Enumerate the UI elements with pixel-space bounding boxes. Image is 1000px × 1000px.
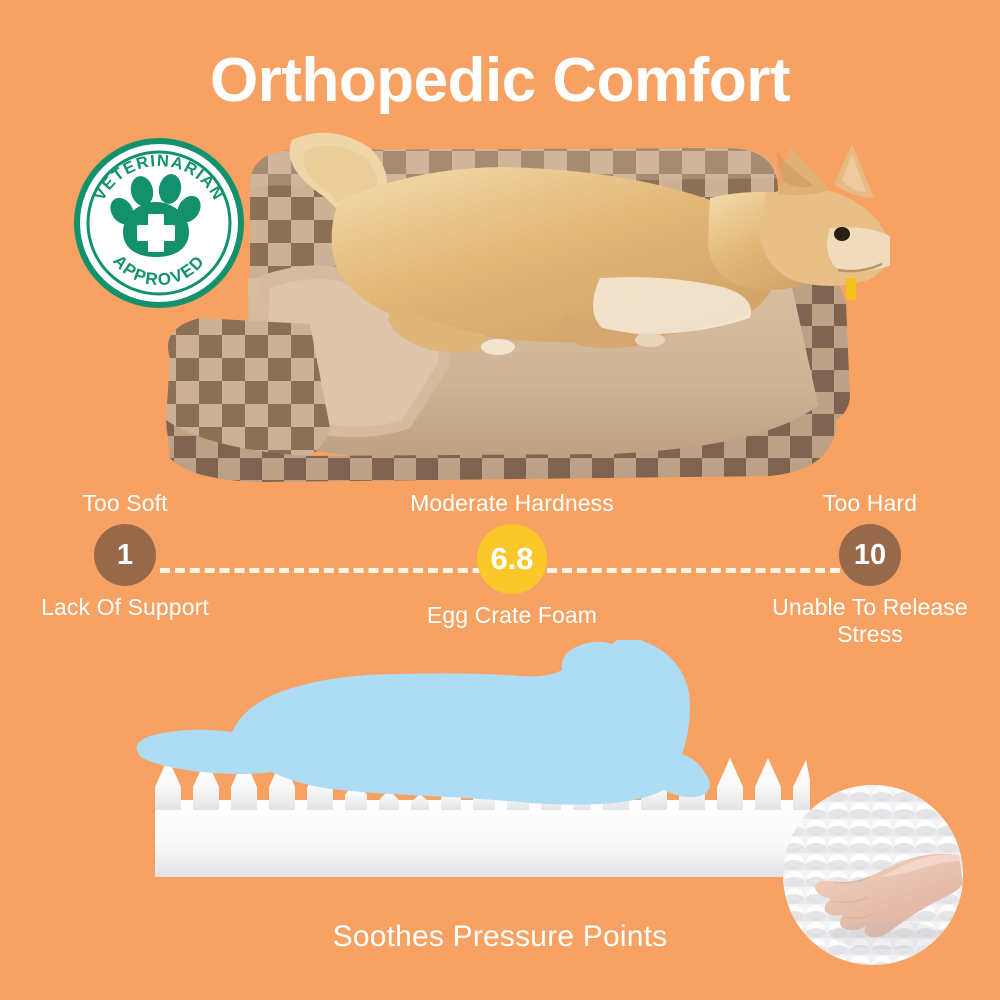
scale-node-moderate-hardness: Moderate Hardness 6.8 Egg Crate Foam: [378, 490, 646, 629]
product-photo-dog-on-bed: [130, 128, 890, 488]
firmness-scale: Too Soft 1 Lack Of Support Moderate Hard…: [0, 490, 1000, 660]
scale-node-value-1: 1: [94, 524, 156, 586]
scale-node-too-hard: Too Hard 10 Unable To Release Stress: [740, 490, 1000, 648]
dog-silhouette: [137, 640, 710, 805]
scale-node-top-label: Too Hard: [740, 490, 1000, 517]
infographic-page: Orthopedic Comfort VETERINARIAN APPROVED: [0, 0, 1000, 1000]
scale-node-bottom-label: Egg Crate Foam: [378, 602, 646, 629]
page-title: Orthopedic Comfort: [0, 48, 1000, 113]
dog-on-orthopedic-bed-illustration: [130, 128, 890, 488]
scale-node-value-10: 10: [839, 524, 901, 586]
scale-node-too-soft: Too Soft 1 Lack Of Support: [0, 490, 250, 621]
scale-node-top-label: Moderate Hardness: [378, 490, 646, 517]
foam-slab-body: [155, 800, 810, 877]
scale-node-top-label: Too Soft: [0, 490, 250, 517]
brand-tag: [846, 278, 856, 300]
bottom-caption: Soothes Pressure Points: [0, 920, 1000, 954]
dog-paw: [481, 339, 515, 355]
scale-node-value-68: 6.8: [477, 524, 547, 594]
dog-eye: [834, 227, 850, 241]
scale-node-bottom-label: Lack Of Support: [0, 594, 250, 621]
